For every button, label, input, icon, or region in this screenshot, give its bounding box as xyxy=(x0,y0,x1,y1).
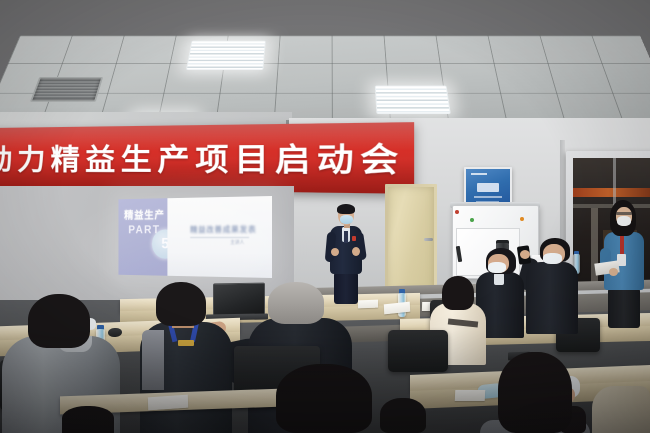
speaker-badge xyxy=(352,236,356,241)
foreground-woman-hair xyxy=(498,352,572,433)
air-vent xyxy=(30,77,103,102)
standing-woman-face-mask xyxy=(617,216,631,226)
photographer-face-mask xyxy=(543,253,562,264)
photographer-suit xyxy=(526,262,578,334)
speaker-legs xyxy=(334,272,358,304)
handout-paper xyxy=(148,395,188,411)
glasses-icon xyxy=(616,212,632,215)
whiteboard-dot-red xyxy=(455,210,459,214)
poster-text-line-1 xyxy=(474,196,502,198)
foreground-man-hair xyxy=(276,364,372,433)
lanyard-man-hair xyxy=(156,282,206,326)
banner-text: 动力精益生产项目启动会 xyxy=(0,134,406,182)
slide-right-panel: 精益改善成果发表 主讲人 xyxy=(167,196,272,278)
projected-slide: 精益生产 PART 5 精益改善成果发表 主讲人 xyxy=(118,196,272,278)
elder-man-hair xyxy=(268,282,324,324)
attendee-shirt xyxy=(494,273,504,285)
chair[interactable] xyxy=(388,330,448,372)
lanyard-man-shirt xyxy=(142,330,164,390)
slide-body-subtitle: 主讲人 xyxy=(230,239,244,246)
slide-body-heading: 精益改善成果发表 xyxy=(190,224,256,235)
seated-person-hair xyxy=(380,398,426,433)
laptop-screen[interactable] xyxy=(213,283,265,318)
attendee-face-mask xyxy=(488,262,506,273)
handout-paper xyxy=(455,390,486,401)
photographer-hand xyxy=(520,250,530,259)
ceiling-light-1 xyxy=(186,41,266,70)
standing-woman-hand xyxy=(609,268,618,276)
woman-cream-coat-hair xyxy=(442,276,474,310)
foreground-beige-shoulder xyxy=(592,386,650,433)
foreground-left-head xyxy=(62,406,114,433)
handout-paper xyxy=(358,300,378,309)
factory-column xyxy=(591,208,598,288)
standing-woman-lanyard xyxy=(620,234,624,256)
collar-pin xyxy=(178,340,194,346)
whiteboard-dot-orange xyxy=(520,217,524,221)
speaker-right-hand xyxy=(352,247,360,256)
slide-title: 精益生产 xyxy=(124,207,165,222)
ceiling-light-2 xyxy=(375,86,451,114)
factory-orange-structure xyxy=(573,188,650,197)
slide-left-panel: 精益生产 PART 5 xyxy=(118,198,167,276)
standing-woman-legs xyxy=(608,288,640,328)
speaker-left-hand xyxy=(331,248,339,256)
whiteboard-dot-green xyxy=(470,218,474,222)
speaker-tie xyxy=(344,231,348,243)
gray-shirt-man-hair xyxy=(28,294,90,348)
red-banner: 动力精益生产项目启动会 xyxy=(0,122,414,194)
door-handle-icon[interactable] xyxy=(424,238,433,241)
slide-divider xyxy=(190,237,249,238)
poster-top-line xyxy=(471,173,487,175)
speaker-hair xyxy=(337,204,355,214)
poster-badge xyxy=(477,183,499,192)
speaker-face-mask xyxy=(340,215,353,224)
meeting-room-photo: 动力精益生产项目启动会 精益生产 PART 5 精益改善成果发表 主讲人 xyxy=(0,0,650,433)
